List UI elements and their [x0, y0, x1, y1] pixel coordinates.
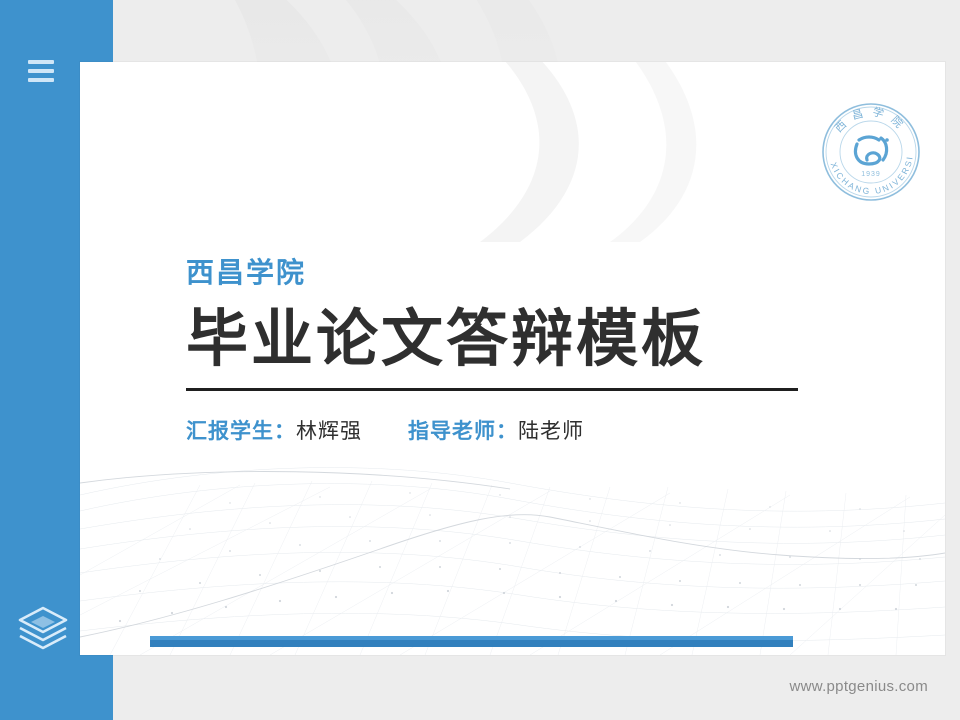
- credits-line: 汇报学生：林辉强指导老师：陆老师: [186, 415, 886, 445]
- menu-bar-1: [28, 60, 54, 64]
- slide-top-swoosh: [80, 62, 945, 242]
- menu-bar-3: [28, 78, 54, 82]
- student-label: 汇报学生：: [186, 420, 296, 443]
- slide-bottom-accent-bar: [150, 636, 793, 647]
- layers-stack-icon[interactable]: [14, 604, 72, 652]
- wireframe-mesh-background: [80, 425, 945, 655]
- menu-bar-2: [28, 69, 54, 73]
- presentation-slide: 西昌学院 XICHANG UNIVERSITY 1939: [80, 62, 945, 655]
- advisor-name: 陆老师: [518, 420, 584, 443]
- hamburger-menu-icon[interactable]: [28, 60, 54, 82]
- footer-website-url: www.pptgenius.com: [790, 678, 929, 695]
- title-text-block: 西昌学院 毕业论文答辩模板 汇报学生：林辉强指导老师：陆老师: [186, 258, 886, 445]
- svg-text:1939: 1939: [861, 171, 881, 178]
- school-name: 西昌学院: [186, 258, 886, 289]
- svg-text:西昌学院: 西昌学院: [832, 104, 912, 136]
- student-name: 林辉强: [296, 420, 362, 443]
- advisor-label: 指导老师：: [408, 420, 518, 443]
- xichang-university-seal: 西昌学院 XICHANG UNIVERSITY 1939: [819, 100, 923, 204]
- slide-viewer: 西昌学院 XICHANG UNIVERSITY 1939: [0, 0, 960, 720]
- title-divider: [186, 388, 798, 391]
- seal-graphic: 西昌学院 XICHANG UNIVERSITY 1939: [819, 100, 923, 204]
- page-title: 毕业论文答辩模板: [186, 305, 886, 374]
- layers-glyph: [14, 604, 72, 652]
